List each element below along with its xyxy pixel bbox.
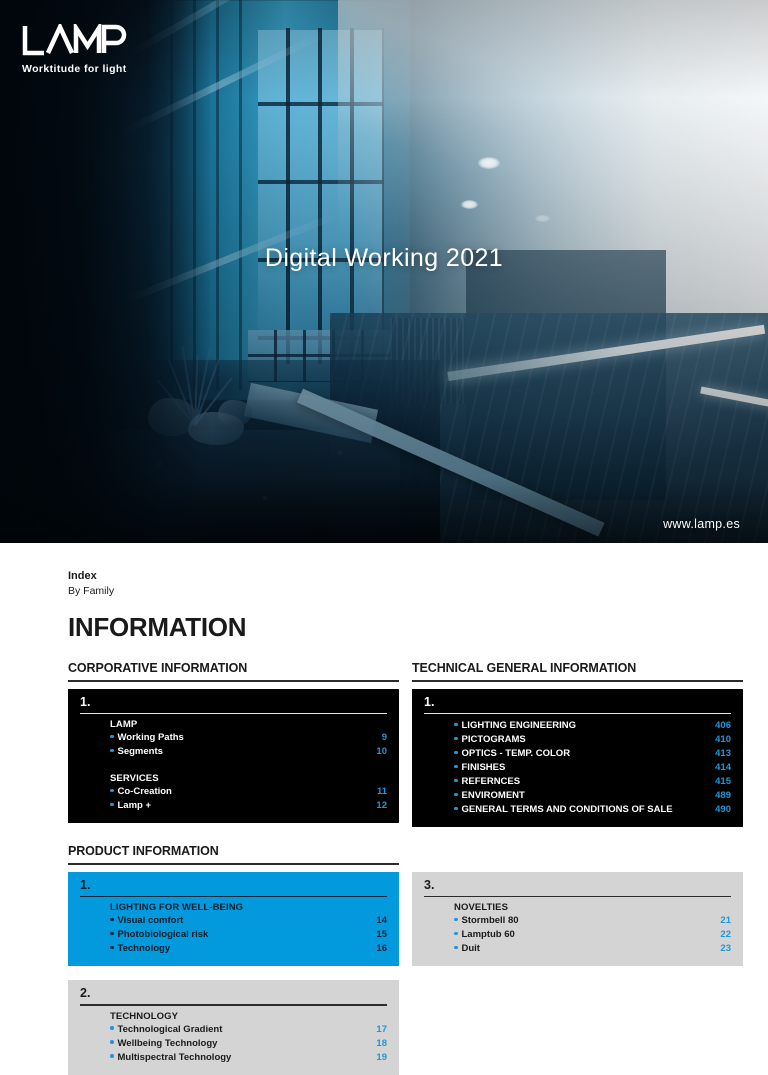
section-heading-product: PRODUCT INFORMATION <box>68 844 399 865</box>
entry-label: Stormbell 80 <box>462 914 721 928</box>
entry-label: ENVIROMENT <box>462 789 716 803</box>
brand-tagline: Worktitude for light <box>22 63 128 75</box>
entry-page-number: 19 <box>376 1051 387 1065</box>
section-heading-corporative: CORPORATIVE INFORMATION <box>68 661 399 682</box>
bullet-icon <box>110 735 114 739</box>
column-product-left: 1. LIGHTING FOR WELL-BEING Visual comfor… <box>68 872 399 1075</box>
lamp-wordmark-icon <box>22 24 128 57</box>
bullet-icon <box>110 749 114 753</box>
hero-banner: Worktitude for light Digital Working 202… <box>0 0 768 543</box>
index-entry[interactable]: Working Paths 9 <box>110 731 387 745</box>
entry-label: GENERAL TERMS AND CONDITIONS OF SALE <box>462 803 716 817</box>
index-entry[interactable]: Technological Gradient 17 <box>110 1023 387 1037</box>
bullet-icon <box>110 918 114 922</box>
bullet-icon <box>454 723 458 727</box>
card-number: 1. <box>80 696 387 713</box>
bullet-icon <box>454 737 458 741</box>
index-entry[interactable]: FINISHES 414 <box>454 761 731 775</box>
entry-group: SERVICES Co-Creation 11 Lamp + 12 <box>110 773 387 813</box>
index-entry[interactable]: Technology 16 <box>110 942 387 956</box>
entry-group: LIGHTING FOR WELL-BEING Visual comfort 1… <box>110 902 387 956</box>
index-row-top: CORPORATIVE INFORMATION 1. LAMP Working … <box>68 661 738 827</box>
bullet-icon <box>110 946 114 950</box>
bullet-icon <box>110 789 114 793</box>
entry-label: Photobiological risk <box>118 928 377 942</box>
brand-logo[interactable]: Worktitude for light <box>22 24 128 75</box>
index-entry[interactable]: Lamptub 60 22 <box>454 928 731 942</box>
entry-label: Duit <box>462 942 721 956</box>
entry-label: Lamp + <box>118 799 377 813</box>
entry-page-number: 490 <box>715 803 731 817</box>
index-kicker-sub: By Family <box>68 585 738 598</box>
column-corporative: CORPORATIVE INFORMATION 1. LAMP Working … <box>68 661 399 827</box>
entry-page-number: 11 <box>377 785 387 799</box>
bullet-icon <box>454 765 458 769</box>
group-title: TECHNOLOGY <box>110 1011 387 1022</box>
entry-label: Segments <box>118 745 377 759</box>
index-entry[interactable]: Multispectral Technology 19 <box>110 1051 387 1065</box>
entry-page-number: 413 <box>715 747 731 761</box>
entry-label: REFERNCES <box>462 775 716 789</box>
index-entry[interactable]: PICTOGRAMS 410 <box>454 733 731 747</box>
entry-group: TECHNOLOGY Technological Gradient 17 Wel… <box>110 1011 387 1065</box>
column-product-right: 3. NOVELTIES Stormbell 80 21 Lamptub 60 <box>412 872 743 1075</box>
entry-label: FINISHES <box>462 761 716 775</box>
group-title: SERVICES <box>110 773 387 784</box>
bullet-icon <box>454 793 458 797</box>
hero-title: Digital Working 2021 <box>0 244 768 273</box>
entry-label: Working Paths <box>118 731 382 745</box>
group-title: LIGHTING FOR WELL-BEING <box>110 902 387 913</box>
entry-group: LAMP Working Paths 9 Segments 10 <box>110 719 387 759</box>
card-number: 2. <box>80 987 387 1004</box>
entry-label: Lamptub 60 <box>462 928 721 942</box>
section-heading-technical: TECHNICAL GENERAL INFORMATION <box>412 661 743 682</box>
entry-group: NOVELTIES Stormbell 80 21 Lamptub 60 22 <box>454 902 731 956</box>
index-sheet: Index By Family INFORMATION CORPORATIVE … <box>0 543 768 1075</box>
bullet-icon <box>454 946 458 950</box>
index-entry[interactable]: Duit 23 <box>454 942 731 956</box>
card-number: 3. <box>424 879 731 896</box>
entry-page-number: 12 <box>376 799 387 813</box>
entry-page-number: 15 <box>376 928 387 942</box>
entry-page-number: 9 <box>382 731 387 745</box>
card-divider <box>80 713 387 715</box>
index-entry[interactable]: Segments 10 <box>110 745 387 759</box>
index-entry[interactable]: GENERAL TERMS AND CONDITIONS OF SALE 490 <box>454 803 731 817</box>
bullet-icon <box>454 807 458 811</box>
card-number: 1. <box>424 696 731 713</box>
entry-page-number: 22 <box>720 928 731 942</box>
bullet-icon <box>110 1026 114 1030</box>
index-card-technical[interactable]: 1. LIGHTING ENGINEERING 406 PICTOGRAMS 4… <box>412 689 743 827</box>
entry-page-number: 410 <box>715 733 731 747</box>
card-number: 1. <box>80 879 387 896</box>
bullet-icon <box>454 751 458 755</box>
bullet-icon <box>110 1040 114 1044</box>
index-card-corporative[interactable]: 1. LAMP Working Paths 9 Segments 1 <box>68 689 399 823</box>
card-divider <box>424 713 731 715</box>
entry-label: Wellbeing Technology <box>118 1037 377 1051</box>
index-entry[interactable]: Visual comfort 14 <box>110 914 387 928</box>
group-title: NOVELTIES <box>454 902 731 913</box>
entry-label: LIGHTING ENGINEERING <box>462 719 716 733</box>
index-kicker: Index <box>68 570 738 584</box>
index-card-novelties[interactable]: 3. NOVELTIES Stormbell 80 21 Lamptub 60 <box>412 872 743 966</box>
card-divider <box>424 896 731 898</box>
website-url[interactable]: www.lamp.es <box>663 517 740 531</box>
card-divider <box>80 1004 387 1006</box>
index-entry[interactable]: ENVIROMENT 489 <box>454 789 731 803</box>
group-title: LAMP <box>110 719 387 730</box>
bullet-icon <box>454 932 458 936</box>
entry-label: PICTOGRAMS <box>462 733 716 747</box>
entry-page-number: 414 <box>715 761 731 775</box>
entry-page-number: 14 <box>376 914 387 928</box>
entry-page-number: 17 <box>376 1023 387 1037</box>
card-divider <box>80 896 387 898</box>
entry-label: Co-Creation <box>118 785 377 799</box>
index-entry[interactable]: Lamp + 12 <box>110 799 387 813</box>
index-entry[interactable]: Photobiological risk 15 <box>110 928 387 942</box>
entry-label: Technology <box>118 942 377 956</box>
index-card-lighting-for-well-being[interactable]: 1. LIGHTING FOR WELL-BEING Visual comfor… <box>68 872 399 966</box>
bullet-icon <box>454 918 458 922</box>
entry-page-number: 10 <box>376 745 387 759</box>
column-technical: TECHNICAL GENERAL INFORMATION 1. LIGHTIN… <box>412 661 743 827</box>
index-entry[interactable]: Wellbeing Technology 18 <box>110 1037 387 1051</box>
entry-label: Visual comfort <box>118 914 377 928</box>
index-entry[interactable]: OPTICS - TEMP. COLOR 413 <box>454 747 731 761</box>
entry-page-number: 406 <box>715 719 731 733</box>
index-row-product: 1. LIGHTING FOR WELL-BEING Visual comfor… <box>68 872 738 1075</box>
entry-page-number: 18 <box>376 1037 387 1051</box>
bullet-icon <box>110 1054 114 1058</box>
index-entry[interactable]: Stormbell 80 21 <box>454 914 731 928</box>
entry-label: OPTICS - TEMP. COLOR <box>462 747 716 761</box>
bullet-icon <box>110 803 114 807</box>
entry-page-number: 16 <box>376 942 387 956</box>
index-card-technology[interactable]: 2. TECHNOLOGY Technological Gradient 17 … <box>68 980 399 1074</box>
entry-group: LIGHTING ENGINEERING 406 PICTOGRAMS 410 … <box>454 719 731 817</box>
entry-page-number: 489 <box>715 789 731 803</box>
index-entry[interactable]: LIGHTING ENGINEERING 406 <box>454 719 731 733</box>
index-entry[interactable]: Co-Creation 11 <box>110 785 387 799</box>
entry-page-number: 23 <box>720 942 731 956</box>
section-heading-product-wrap: PRODUCT INFORMATION <box>68 844 738 865</box>
page-title: INFORMATION <box>68 612 738 643</box>
bullet-icon <box>454 779 458 783</box>
entry-label: Technological Gradient <box>118 1023 377 1037</box>
bullet-icon <box>110 932 114 936</box>
entry-page-number: 415 <box>715 775 731 789</box>
index-entry[interactable]: REFERNCES 415 <box>454 775 731 789</box>
entry-label: Multispectral Technology <box>118 1051 377 1065</box>
entry-page-number: 21 <box>720 914 731 928</box>
